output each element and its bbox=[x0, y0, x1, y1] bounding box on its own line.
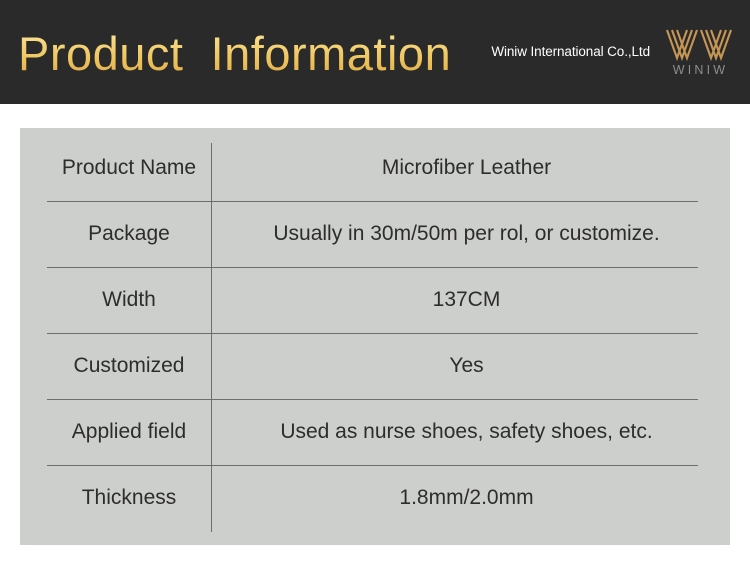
spec-value-package: Usually in 30m/50m per rol, or customize… bbox=[215, 220, 718, 248]
spec-value-applied-field: Used as nurse shoes, safety shoes, etc. bbox=[215, 418, 718, 446]
page-title: Product Information bbox=[18, 25, 451, 83]
table-row: Width 137CM bbox=[20, 267, 730, 333]
table-row: Applied field Used as nurse shoes, safet… bbox=[20, 399, 730, 465]
spec-value-customized: Yes bbox=[215, 352, 718, 380]
winiw-wordmark: WINIW bbox=[670, 63, 729, 77]
spec-label-package: Package bbox=[47, 220, 211, 248]
table-row: Product Name Microfiber Leather bbox=[20, 135, 730, 201]
winiw-w-mark-icon bbox=[663, 28, 735, 62]
company-name: Winiw International Co.,Ltd bbox=[491, 44, 650, 60]
product-specification-table: Product Name Microfiber Leather Package … bbox=[20, 128, 730, 545]
page-header: Product Information Winiw International … bbox=[0, 0, 750, 104]
table-row: Thickness 1.8mm/2.0mm bbox=[20, 465, 730, 531]
table-row: Package Usually in 30m/50m per rol, or c… bbox=[20, 201, 730, 267]
table-row: Customized Yes bbox=[20, 333, 730, 399]
spec-value-thickness: 1.8mm/2.0mm bbox=[215, 484, 718, 512]
product-specification-panel: Product Name Microfiber Leather Package … bbox=[20, 128, 730, 545]
spec-label-width: Width bbox=[47, 286, 211, 314]
spec-label-applied-field: Applied field bbox=[47, 418, 211, 446]
header-brand-block: Winiw International Co.,Ltd WINIW bbox=[491, 28, 736, 76]
spec-value-width: 137CM bbox=[215, 286, 718, 314]
spec-label-thickness: Thickness bbox=[47, 484, 211, 512]
spec-value-product-name: Microfiber Leather bbox=[215, 154, 718, 182]
spec-label-product-name: Product Name bbox=[47, 154, 211, 182]
spec-label-customized: Customized bbox=[47, 352, 211, 380]
winiw-logo: WINIW bbox=[662, 28, 736, 77]
